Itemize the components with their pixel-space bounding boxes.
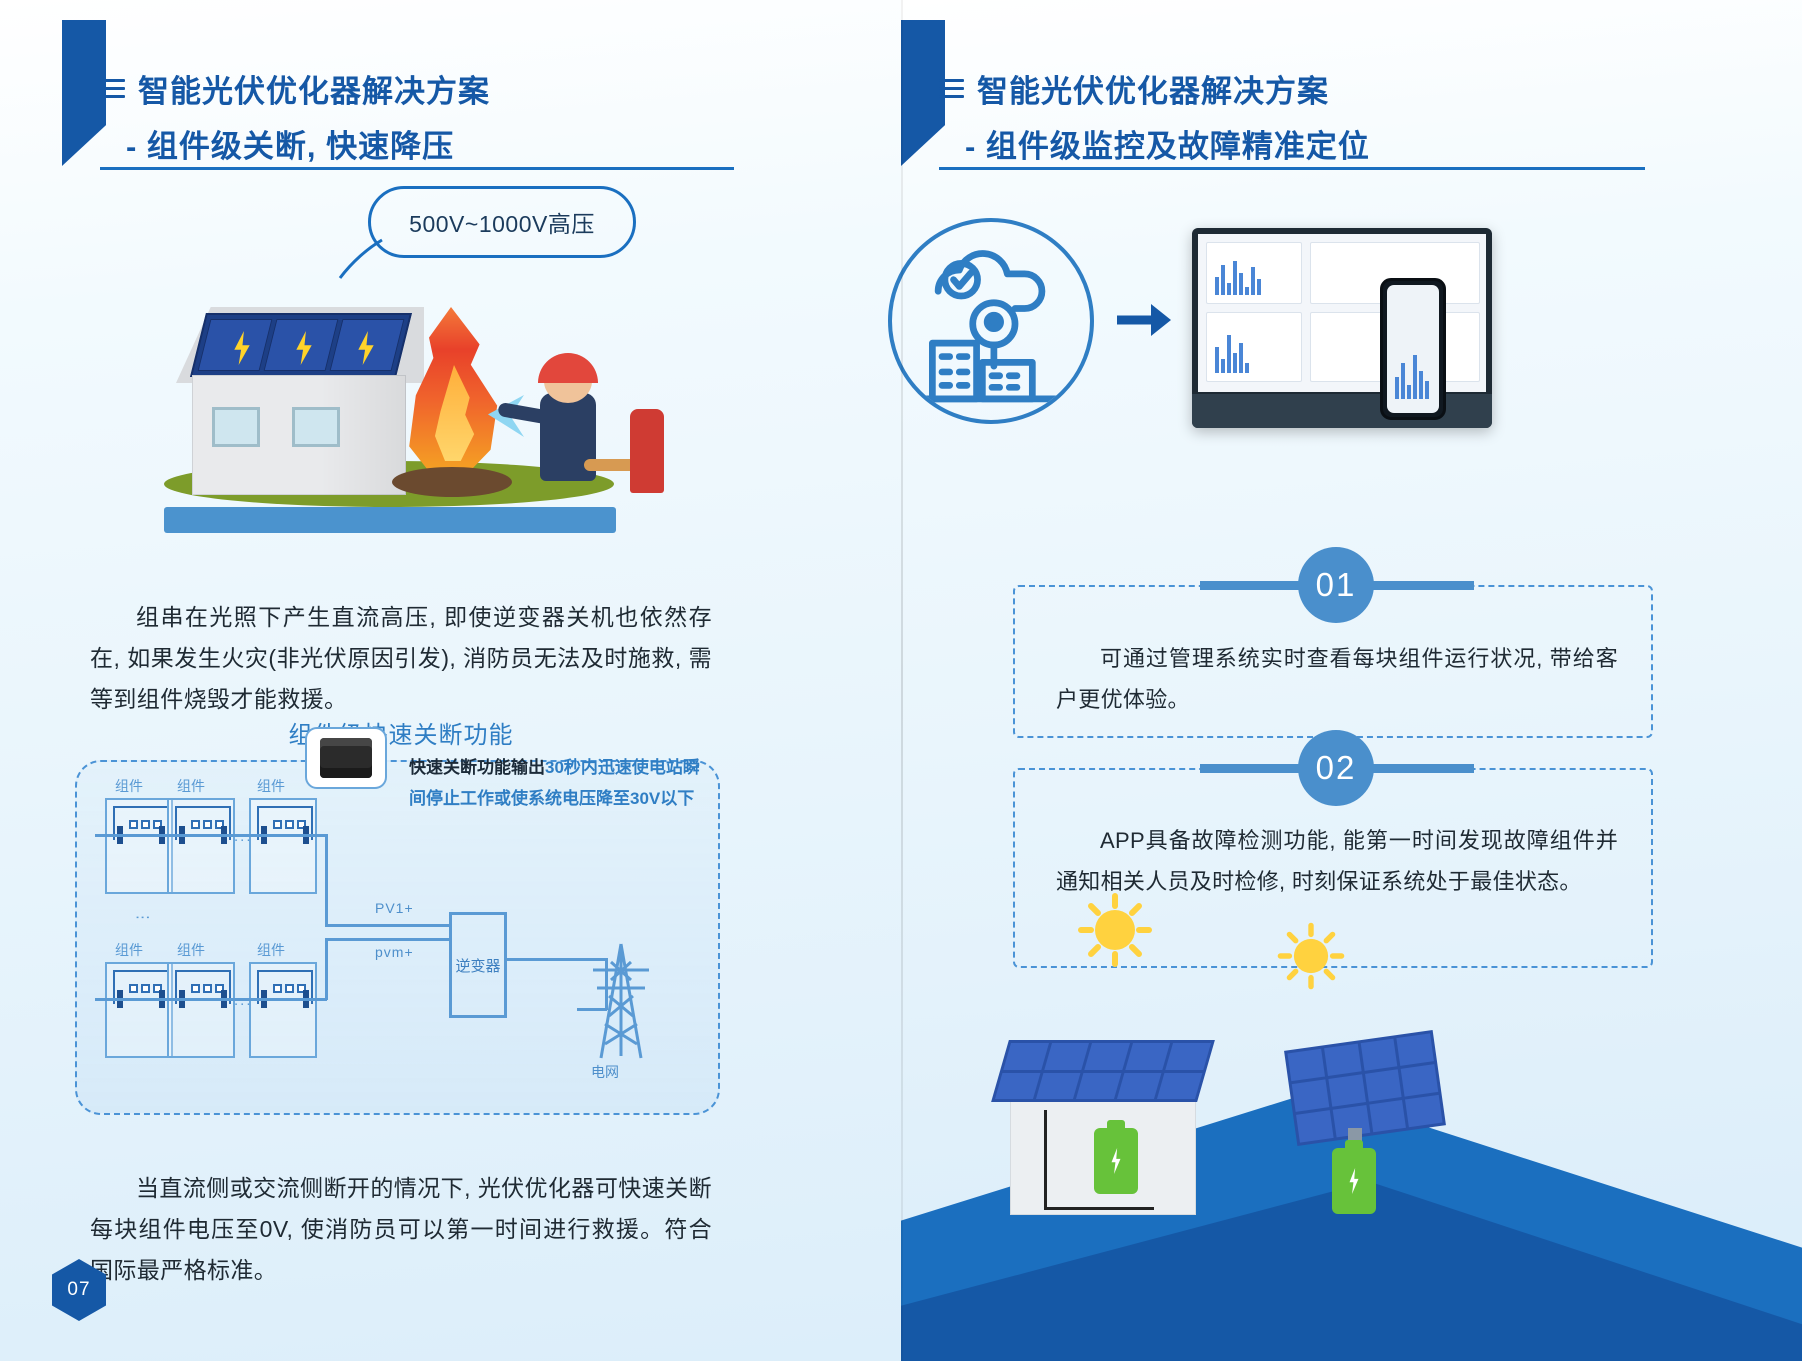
- bolt-glyph: [1347, 1168, 1361, 1194]
- optimizer-chip-icon: [129, 984, 162, 993]
- inverter-box: 逆变器: [449, 912, 507, 1018]
- header-title-line: 智能光伏优化器解决方案: [100, 66, 490, 111]
- sun-icon: [1275, 920, 1347, 992]
- hamburger-icon: [939, 79, 964, 98]
- bar-chart: [1215, 327, 1249, 373]
- page-gutter-divider: [901, 0, 903, 1361]
- badge-rule: [1370, 581, 1474, 590]
- laptop-dashboard-photo: [1192, 228, 1492, 428]
- feature-card-text: 可通过管理系统实时查看每块组件运行状况, 带给客户更优体验。: [1056, 638, 1618, 720]
- grid-label: 电网: [591, 1062, 619, 1082]
- page-number-text: 07: [67, 1279, 90, 1301]
- sun-icon: [1075, 890, 1155, 970]
- dashboard-chart-panel: [1206, 242, 1302, 304]
- pv-m-label: pvm+: [375, 944, 414, 960]
- optimizer-chip-icon: [273, 984, 306, 993]
- annotation-prefix: 快速关断功能输出: [409, 758, 545, 777]
- arrow-right-icon: [1115, 300, 1173, 340]
- fire-scene-illustration: [140, 258, 640, 533]
- feature-number-badge: 02: [1298, 730, 1374, 806]
- optimizer-chip-icon: [191, 820, 224, 829]
- feature-card-text: APP具备故障检测功能, 能第一时间发现故障组件并通知相关人员及时检修, 时刻保…: [1056, 820, 1618, 902]
- phone-app-photo: [1380, 278, 1446, 420]
- phone-screen: [1387, 285, 1439, 413]
- pv-positive-label: PV1+: [375, 900, 414, 916]
- module-label: 组件: [115, 776, 143, 796]
- brochure-spread: 智能光伏优化器解决方案 - 组件级关断, 快速降压 500V~1000V高压: [0, 0, 1802, 1361]
- module-label: 组件: [177, 940, 205, 960]
- vertical-ellipsis-label: ⋮: [133, 910, 151, 927]
- module-label: 组件: [115, 940, 143, 960]
- wiring-line: [1044, 1110, 1047, 1210]
- laptop-keyboard-base: [1192, 394, 1492, 428]
- window-shape: [212, 407, 260, 447]
- pv-module: [105, 798, 173, 894]
- page-subtitle: - 组件级关断, 快速降压: [100, 121, 490, 166]
- pv-module: [167, 962, 235, 1058]
- connection-line: [325, 938, 451, 941]
- window-shape: [292, 407, 340, 447]
- fire-hydrant-icon: [630, 409, 664, 493]
- module-label: 组件: [257, 776, 285, 796]
- bolt-glyph: [1109, 1148, 1123, 1174]
- string-bus-line: [95, 998, 327, 1001]
- header-underline: [100, 167, 734, 170]
- feature-number-text: 01: [1316, 566, 1357, 604]
- module-label: 组件: [177, 776, 205, 796]
- pv-module: [249, 962, 317, 1058]
- optimizer-chip-icon: [273, 820, 306, 829]
- rapid-shutdown-diagram: 组件 组件 组件: [75, 760, 720, 1115]
- blue-base-bar: [164, 507, 616, 533]
- header-title-group: 智能光伏优化器解决方案 - 组件级关断, 快速降压: [100, 66, 490, 166]
- optimizer-chip-icon: [129, 820, 162, 829]
- cloud-location-monitoring-icon: [888, 218, 1094, 424]
- power-tower-icon: [589, 940, 653, 1060]
- page-title: 智能光伏优化器解决方案: [977, 66, 1329, 111]
- badge-rule: [1370, 764, 1474, 773]
- section-title: 组件级快速关断功能: [0, 715, 802, 750]
- badge-rule: [1200, 581, 1304, 590]
- diagram-annotation: 快速关断功能输出30秒内迅速使电站瞬间停止工作或使系统电压降至30V以下: [409, 752, 709, 814]
- pv-module: [105, 962, 173, 1058]
- badge-rule: [1200, 764, 1304, 773]
- left-page: 智能光伏优化器解决方案 - 组件级关断, 快速降压 500V~1000V高压: [0, 0, 901, 1361]
- connection-line: [325, 924, 451, 927]
- wiring-line: [1044, 1207, 1154, 1210]
- page-title: 智能光伏优化器解决方案: [138, 66, 490, 111]
- header-title-group: 智能光伏优化器解决方案 - 组件级监控及故障精准定位: [939, 66, 1370, 166]
- battery-icon: [1094, 1128, 1138, 1194]
- rapid-shutdown-device-icon: [305, 727, 387, 789]
- scorched-ground-shape: [392, 467, 512, 497]
- voltage-callout-text: 500V~1000V高压: [409, 205, 595, 239]
- voltage-callout-bubble: 500V~1000V高压: [368, 186, 636, 258]
- optimizer-chip-icon: [191, 984, 224, 993]
- string-bus-line: [95, 834, 327, 837]
- bar-chart: [1395, 345, 1429, 399]
- pv-module: [167, 798, 235, 894]
- pv-module: [249, 798, 317, 894]
- header-title-line: 智能光伏优化器解决方案: [939, 66, 1370, 111]
- conclusion-paragraph: 当直流侧或交流侧断开的情况下, 光伏优化器可快速关断每块组件电压至0V, 使消防…: [90, 1168, 712, 1291]
- bar-chart: [1215, 255, 1261, 295]
- feature-number-text: 02: [1316, 749, 1357, 787]
- header-underline: [939, 167, 1645, 170]
- intro-paragraph: 组串在光照下产生直流高压, 即使逆变器关机也依然存在, 如果发生火灾(非光伏原因…: [90, 597, 712, 720]
- connection-line: [325, 938, 328, 1000]
- hamburger-icon: [100, 79, 125, 98]
- dashboard-chart-panel: [1206, 312, 1302, 382]
- firefighter-helmet-icon: [538, 353, 598, 383]
- feature-number-badge: 01: [1298, 547, 1374, 623]
- connection-line: [325, 834, 328, 926]
- battery-icon: [1332, 1148, 1376, 1214]
- inverter-label: 逆变器: [455, 955, 500, 976]
- module-label: 组件: [257, 940, 285, 960]
- page-subtitle: - 组件级监控及故障精准定位: [939, 121, 1370, 166]
- roof-solar-array: [991, 1040, 1215, 1102]
